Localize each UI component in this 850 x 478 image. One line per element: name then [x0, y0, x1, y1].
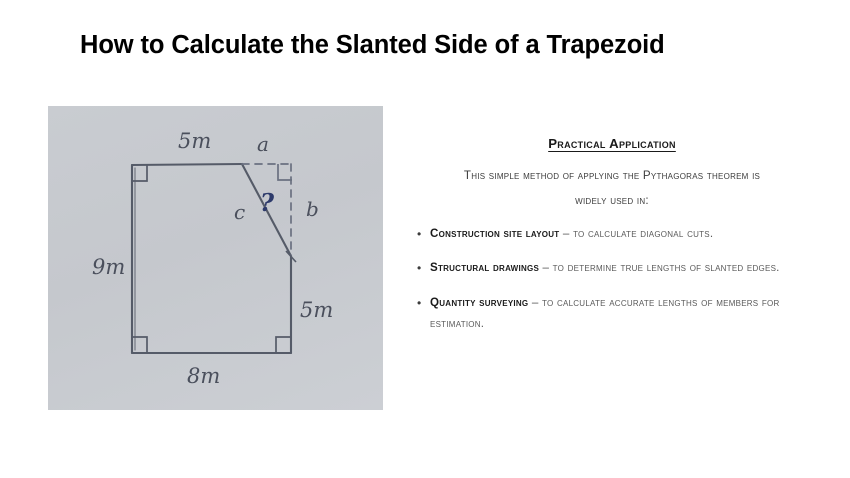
- label-triangle-a: a: [257, 132, 269, 156]
- bullet-body: to calculate diagonal cuts.: [573, 227, 713, 240]
- page-title: How to Calculate the Slanted Side of a T…: [80, 31, 780, 60]
- right-angle-bottom-left: [132, 337, 147, 353]
- section-heading: Practical Application: [412, 136, 812, 151]
- bullet-dot-icon: •: [417, 293, 421, 314]
- right-angle-top-left: [132, 165, 147, 181]
- right-angle-bottom-right: [276, 337, 291, 353]
- trapezoid-top-edge: [132, 164, 242, 165]
- bullet-dot-icon: •: [417, 224, 421, 245]
- label-left-edge: 9m: [92, 255, 125, 279]
- label-triangle-c: c: [234, 200, 245, 224]
- practical-application-section: Practical Application This simple method…: [412, 136, 812, 348]
- label-right-edge: 5m: [300, 298, 333, 322]
- label-triangle-b: b: [306, 197, 319, 221]
- trapezoid-diagram: 5m 9m 8m 5m a b c ?: [48, 106, 383, 410]
- label-bottom-edge: 8m: [187, 364, 220, 388]
- application-bullet-list: • Construction site layout – to calculat…: [412, 224, 812, 335]
- label-top-edge: 5m: [178, 129, 211, 153]
- trapezoid-diagram-panel: 5m 9m 8m 5m a b c ?: [48, 106, 383, 410]
- bullet-lead: Construction site layout: [430, 227, 559, 240]
- intro-line-1: This simple method of applying the Pytha…: [412, 169, 812, 183]
- bullet-dash: –: [559, 227, 573, 240]
- bullet-dot-icon: •: [417, 258, 421, 279]
- bullet-lead: Structural drawings: [430, 261, 539, 274]
- list-item: • Construction site layout – to calculat…: [412, 224, 812, 245]
- bullet-body: to determine true lengths of slanted edg…: [553, 261, 780, 274]
- bullet-dash: –: [528, 296, 542, 309]
- bullet-lead: Quantity surveying: [430, 296, 528, 309]
- list-item: • Quantity surveying – to calculate accu…: [412, 293, 812, 334]
- label-unknown-question-mark: ?: [260, 188, 275, 217]
- bullet-dash: –: [539, 261, 553, 274]
- list-item: • Structural drawings – to determine tru…: [412, 258, 812, 279]
- right-angle-dashed-corner: [278, 164, 292, 180]
- intro-line-2: widely used in:: [412, 194, 812, 208]
